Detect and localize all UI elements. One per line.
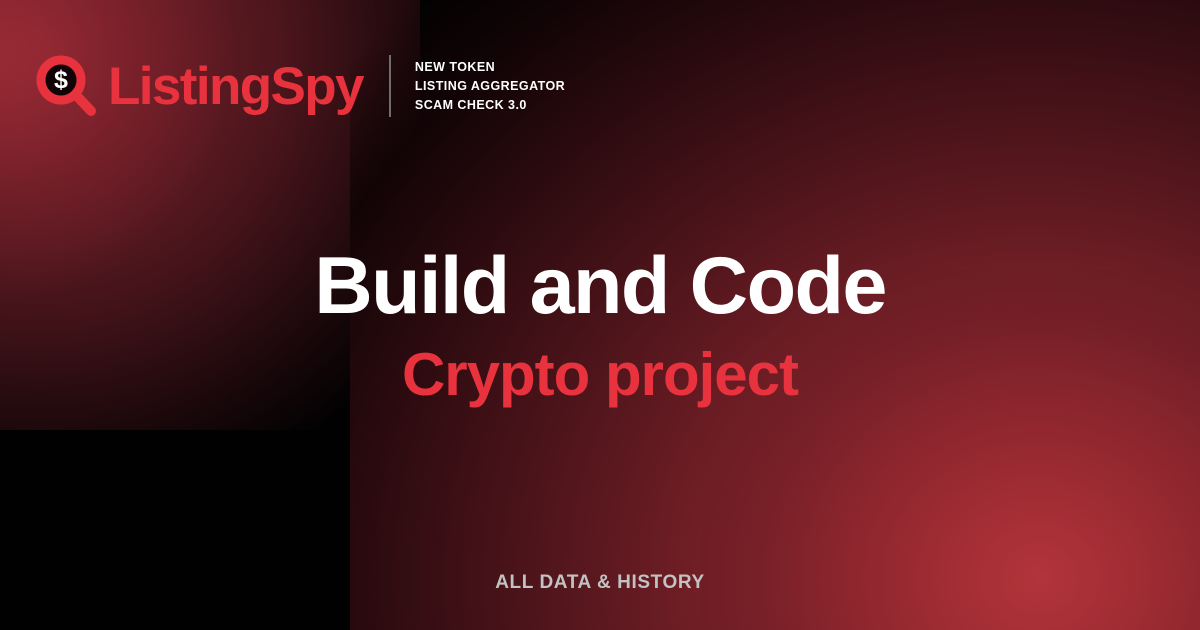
logo-lockup[interactable]: $ ListingSpy [36,55,363,117]
headline-secondary: Crypto project [0,345,1200,405]
tagline-line-2: LISTING AGGREGATOR [415,77,565,96]
brand-wordmark: ListingSpy [108,60,363,113]
promo-banner: $ ListingSpy NEW TOKEN LISTING AGGREGATO… [0,0,1200,630]
header-divider [389,55,391,117]
headline-block: Build and Code Crypto project [0,246,1200,405]
tagline-line-1: NEW TOKEN [415,58,565,77]
brand-header: $ ListingSpy NEW TOKEN LISTING AGGREGATO… [36,55,565,117]
footer-caption: ALL DATA & HISTORY [0,572,1200,594]
brand-tagline: NEW TOKEN LISTING AGGREGATOR SCAM CHECK … [415,58,565,115]
tagline-line-3: SCAM CHECK 3.0 [415,96,565,115]
headline-primary: Build and Code [0,246,1200,327]
magnifier-dollar-icon: $ [36,55,98,117]
svg-text:$: $ [54,66,68,94]
footer-caption-text: ALL DATA & HISTORY [495,572,705,594]
